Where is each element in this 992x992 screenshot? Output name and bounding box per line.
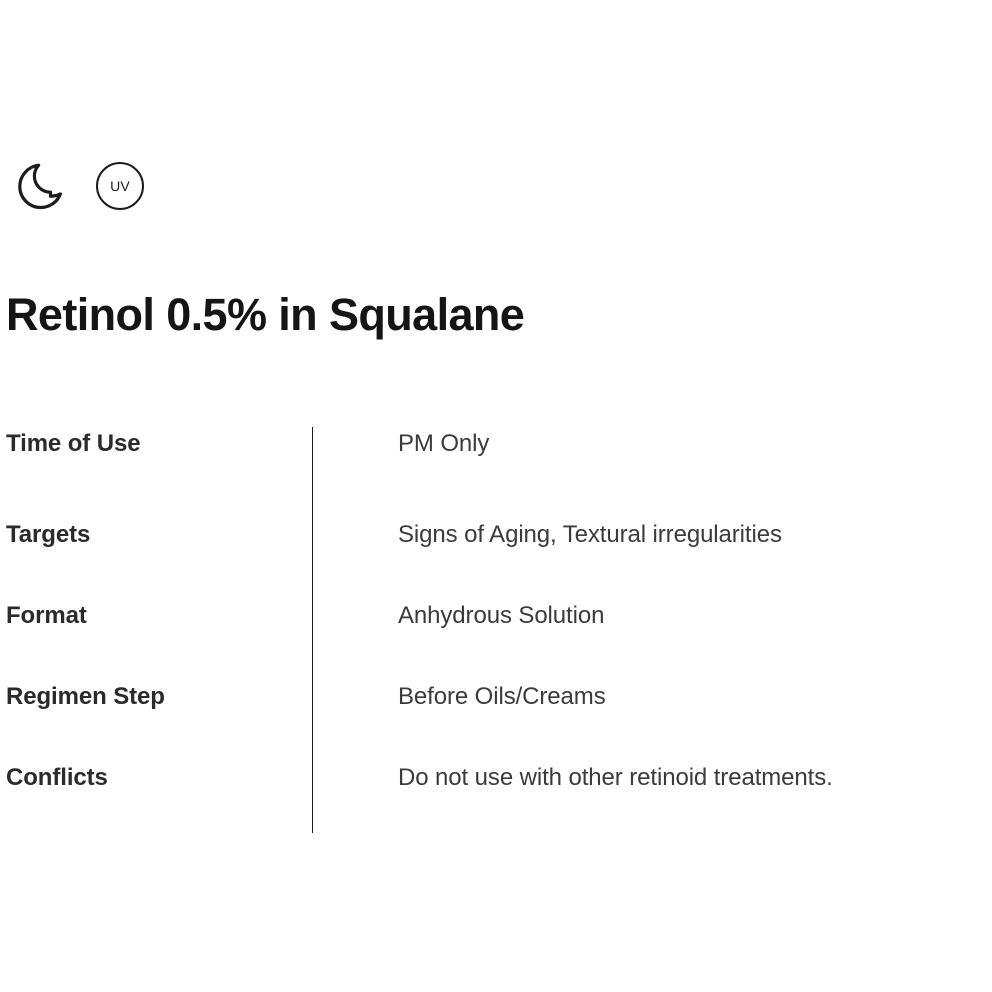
table-row: Regimen Step Before Oils/Creams [0,680,992,714]
table-row: Time of Use PM Only [0,427,992,461]
spec-value-targets: Signs of Aging, Textural irregularities [398,518,992,552]
uv-badge-icon: UV [96,162,144,210]
table-row: Conflicts Do not use with other retinoid… [0,761,992,795]
moon-icon [14,161,62,211]
attribute-icon-row: UV [14,158,144,214]
spec-label-regimen-step: Regimen Step [6,680,296,714]
product-info-card: UV Retinol 0.5% in Squalane Targets Sign… [0,0,992,992]
table-row: Targets Signs of Aging, Textural irregul… [0,518,992,552]
table-row: Format Anhydrous Solution [0,599,992,633]
spec-label-format: Format [6,599,296,633]
spec-label-targets: Targets [6,518,296,552]
spec-label-conflicts: Conflicts [6,761,296,795]
uv-badge-label: UV [110,179,130,193]
page-title: Retinol 0.5% in Squalane [6,290,524,340]
spec-value-time-of-use: PM Only [398,427,992,461]
spec-value-conflicts: Do not use with other retinoid treatment… [398,761,992,795]
spec-value-format: Anhydrous Solution [398,599,992,633]
spec-value-regimen-step: Before Oils/Creams [398,680,992,714]
spec-table: Targets Signs of Aging, Textural irregul… [0,427,992,833]
spec-label-time-of-use: Time of Use [6,427,296,461]
